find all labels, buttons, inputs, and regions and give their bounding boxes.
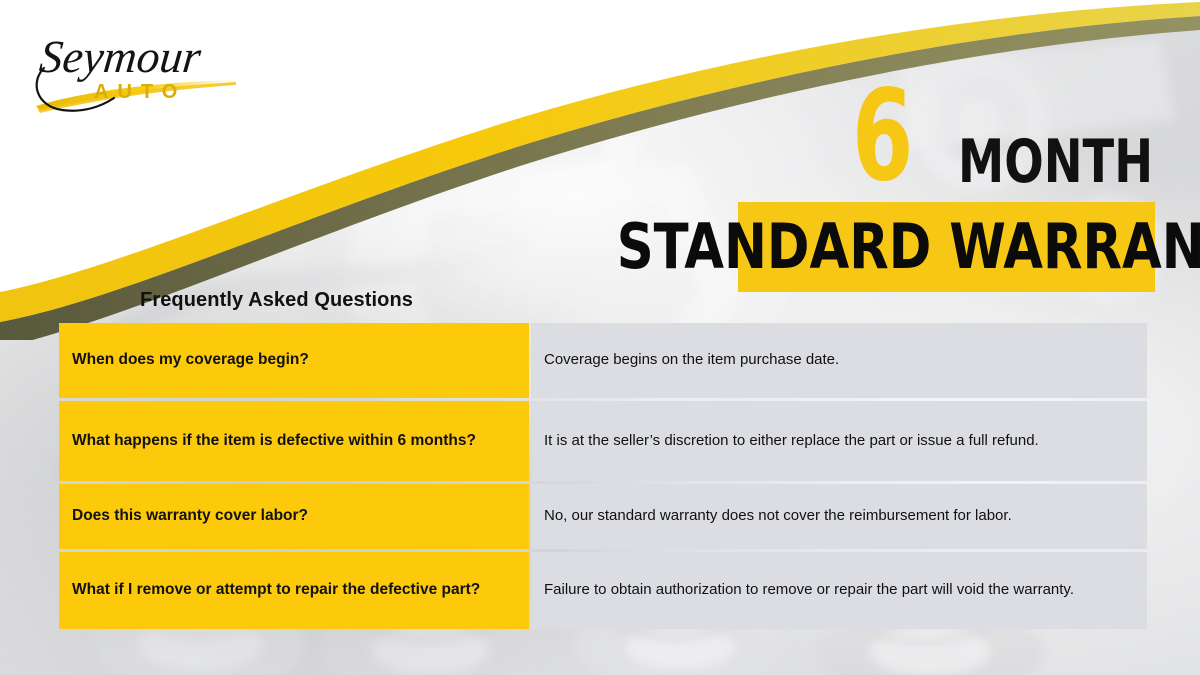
faq-row: What if I remove or attempt to repair th… — [59, 552, 1147, 629]
warranty-duration: 6 MONTH — [735, 70, 1155, 190]
faq-answer-cell: No, our standard warranty does not cover… — [531, 484, 1147, 549]
svg-text:AUTO: AUTO — [94, 81, 186, 103]
brand-logo: Seymour AUTO — [22, 18, 262, 123]
faq-question-cell: What happens if the item is defective wi… — [59, 401, 529, 481]
duration-number: 6 — [852, 82, 912, 190]
faq-row: Does this warranty cover labor? No, our … — [59, 484, 1147, 549]
faq-heading: Frequently Asked Questions — [140, 289, 413, 312]
faq-question-cell: When does my coverage begin? — [59, 323, 529, 398]
standard-warranty-banner: STANDARD WARRANTY — [738, 202, 1155, 292]
faq-answer-cell: Failure to obtain authorization to remov… — [531, 552, 1147, 629]
svg-text:Seymour: Seymour — [37, 31, 204, 82]
faq-answer-cell: It is at the seller’s discretion to eith… — [531, 401, 1147, 481]
faq-table: When does my coverage begin? Coverage be… — [57, 320, 1149, 632]
warranty-slide: Seymour AUTO 6 MONTH STANDARD WARRANTY F… — [0, 0, 1200, 675]
faq-row: What happens if the item is defective wi… — [59, 401, 1147, 481]
faq-row: When does my coverage begin? Coverage be… — [59, 323, 1147, 398]
faq-question-cell: Does this warranty cover labor? — [59, 484, 529, 549]
faq-question-cell: What if I remove or attempt to repair th… — [59, 552, 529, 629]
standard-warranty-banner-text: STANDARD WARRANTY — [616, 216, 1200, 278]
faq-answer-cell: Coverage begins on the item purchase dat… — [531, 323, 1147, 398]
duration-unit: MONTH — [958, 135, 1155, 190]
warranty-headline: 6 MONTH STANDARD WARRANTY — [735, 70, 1155, 300]
